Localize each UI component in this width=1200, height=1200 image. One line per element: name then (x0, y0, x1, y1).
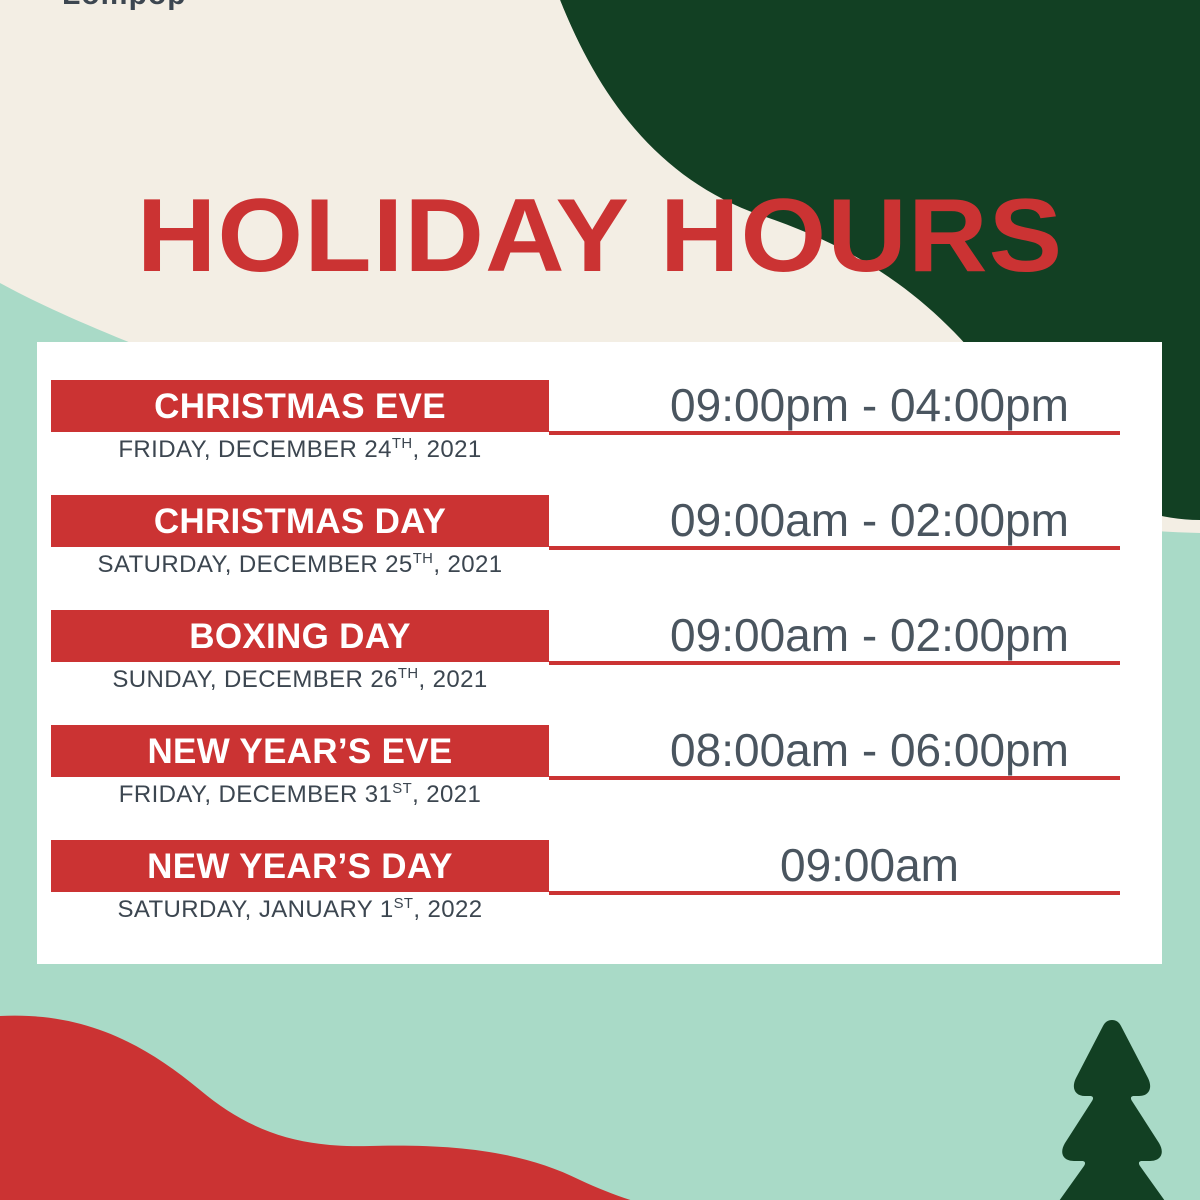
schedule-row: NEW YEAR’S DAYSATURDAY, JANUARY 1ST, 202… (37, 802, 1162, 922)
schedule-row: BOXING DAYSUNDAY, DECEMBER 26TH, 202109:… (37, 572, 1162, 687)
date-ordinal-suffix: TH (398, 666, 419, 682)
holiday-hours-poster: Lollipop HOLIDAY HOURS CHRISTMAS EVEFRID… (0, 0, 1200, 1200)
holiday-name-bar: CHRISTMAS DAY (51, 495, 549, 547)
date-ordinal-suffix: ST (392, 781, 412, 797)
holiday-name-label: BOXING DAY (189, 619, 410, 654)
holiday-hours-value: 09:00am (597, 842, 1142, 888)
holiday-name-label: CHRISTMAS EVE (154, 389, 446, 424)
holiday-hours-value: 09:00am - 02:00pm (597, 612, 1142, 658)
row-divider (549, 661, 1120, 665)
holiday-date-label: SATURDAY, JANUARY 1ST, 2022 (51, 896, 549, 924)
date-ordinal-suffix: ST (394, 896, 414, 912)
holiday-name-label: CHRISTMAS DAY (154, 504, 446, 539)
holiday-name-label: NEW YEAR’S EVE (147, 734, 452, 769)
holiday-name-bar: CHRISTMAS EVE (51, 380, 549, 432)
holiday-name-label: NEW YEAR’S DAY (147, 849, 453, 884)
date-ordinal-suffix: TH (392, 436, 413, 452)
schedule-row: CHRISTMAS EVEFRIDAY, DECEMBER 24TH, 2021… (37, 342, 1162, 457)
row-divider (549, 546, 1120, 550)
date-ordinal-suffix: TH (413, 551, 434, 567)
holiday-name-bar: NEW YEAR’S DAY (51, 840, 549, 892)
row-divider (549, 891, 1120, 895)
schedule-card: CHRISTMAS EVEFRIDAY, DECEMBER 24TH, 2021… (37, 342, 1162, 964)
schedule-rows: CHRISTMAS EVEFRIDAY, DECEMBER 24TH, 2021… (37, 342, 1162, 922)
holiday-hours-value: 09:00pm - 04:00pm (597, 382, 1142, 428)
date-prefix: SATURDAY, JANUARY 1 (117, 896, 393, 923)
row-divider (549, 776, 1120, 780)
holiday-name-bar: BOXING DAY (51, 610, 549, 662)
holiday-hours-value: 09:00am - 02:00pm (597, 497, 1142, 543)
date-year: , 2022 (413, 896, 482, 923)
page-title: HOLIDAY HOURS (0, 184, 1200, 288)
holiday-name-bar: NEW YEAR’S EVE (51, 725, 549, 777)
schedule-row: CHRISTMAS DAYSATURDAY, DECEMBER 25TH, 20… (37, 457, 1162, 572)
holiday-hours-value: 08:00am - 06:00pm (597, 727, 1142, 773)
row-divider (549, 431, 1120, 435)
schedule-row: NEW YEAR’S EVEFRIDAY, DECEMBER 31ST, 202… (37, 687, 1162, 802)
clipped-brand-text: Lollipop (62, 0, 187, 12)
